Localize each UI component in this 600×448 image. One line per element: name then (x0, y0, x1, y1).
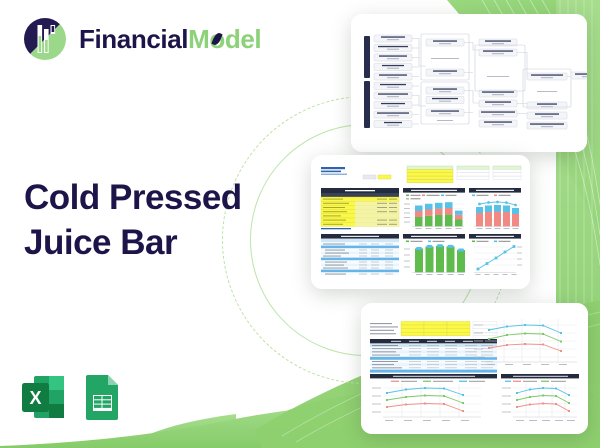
page-title: Cold Pressed Juice Bar (24, 176, 242, 266)
svg-text:X: X (29, 388, 41, 408)
excel-icon[interactable]: X (20, 371, 66, 423)
dashboard-preview[interactable] (311, 155, 530, 289)
brand-name-part2: Model (188, 24, 261, 54)
brand-o-leaf: o (209, 26, 224, 52)
page-title-line2: Juice Bar (24, 221, 242, 266)
slide-canvas: FinancialModel Cold Pressed Juice Bar X (0, 0, 600, 448)
projections-preview[interactable] (361, 303, 588, 434)
brand-name: FinancialModel (79, 26, 261, 52)
brand-name-part1: Financial (79, 24, 188, 54)
financial-tree-diagram-preview[interactable] (351, 14, 587, 152)
brand-logo: FinancialModel (22, 16, 261, 62)
file-format-icons: X (20, 371, 125, 423)
google-sheets-icon[interactable] (79, 371, 125, 423)
page-title-line1: Cold Pressed (24, 176, 242, 221)
financial-model-circle-logo-icon (22, 16, 68, 62)
